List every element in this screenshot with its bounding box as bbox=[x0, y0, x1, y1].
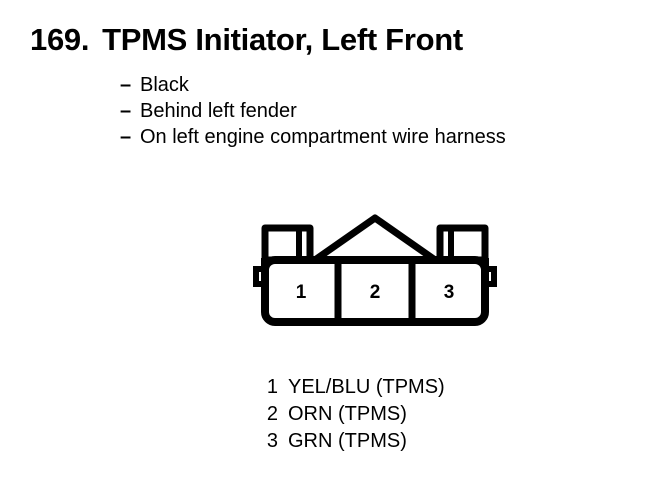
component-description-list: – Black – Behind left fender – On left e… bbox=[120, 72, 506, 150]
legend-pin-number: 3 bbox=[258, 428, 278, 455]
item-number: 169. bbox=[30, 22, 89, 58]
dash-icon: – bbox=[120, 98, 140, 124]
cavity-number-1: 1 bbox=[296, 282, 307, 303]
page-title: 169. TPMS Initiator, Left Front bbox=[30, 22, 463, 58]
legend-pin-number: 1 bbox=[258, 374, 278, 401]
pin-legend: 1 YEL/BLU (TPMS) 2 ORN (TPMS) 3 GRN (TPM… bbox=[258, 374, 445, 455]
list-item: – Black bbox=[120, 72, 506, 98]
cavity-number-3: 3 bbox=[444, 282, 455, 303]
list-item-label: Behind left fender bbox=[140, 98, 297, 124]
left-upper-shroud bbox=[265, 228, 310, 260]
list-item: – Behind left fender bbox=[120, 98, 506, 124]
wiring-diagram-page: 169. TPMS Initiator, Left Front – Black … bbox=[0, 0, 672, 498]
dash-icon: – bbox=[120, 124, 140, 150]
legend-row: 2 ORN (TPMS) bbox=[258, 401, 445, 428]
right-upper-shroud bbox=[440, 228, 485, 260]
list-item: – On left engine compartment wire harnes… bbox=[120, 124, 506, 150]
connector-diagram: 1 2 3 bbox=[235, 200, 515, 340]
legend-row: 1 YEL/BLU (TPMS) bbox=[258, 374, 445, 401]
legend-row: 3 GRN (TPMS) bbox=[258, 428, 445, 455]
dash-icon: – bbox=[120, 72, 140, 98]
list-item-label: On left engine compartment wire harness bbox=[140, 124, 506, 150]
list-item-label: Black bbox=[140, 72, 189, 98]
component-title: TPMS Initiator, Left Front bbox=[102, 22, 463, 58]
cavity-number-2: 2 bbox=[370, 282, 381, 303]
legend-pin-number: 2 bbox=[258, 401, 278, 428]
legend-pin-description: GRN (TPMS) bbox=[288, 428, 407, 455]
center-keyway-peak bbox=[312, 218, 438, 262]
legend-pin-description: YEL/BLU (TPMS) bbox=[288, 374, 445, 401]
connector-illustration: 1 2 3 bbox=[235, 200, 515, 340]
legend-pin-description: ORN (TPMS) bbox=[288, 401, 407, 428]
